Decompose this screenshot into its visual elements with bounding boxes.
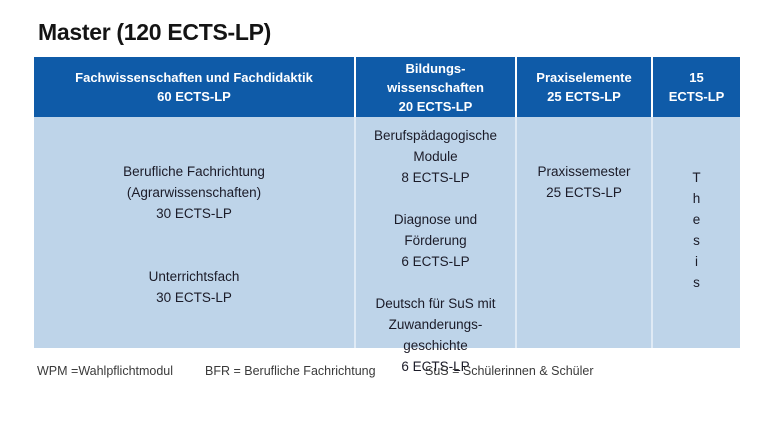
- module-line: Zuwanderungs-: [360, 314, 511, 335]
- table-header-row: Fachwissenschaften und Fachdidaktik 60 E…: [34, 57, 740, 117]
- header-line: ECTS-LP: [657, 87, 736, 106]
- module-line: 8 ECTS-LP: [360, 167, 511, 188]
- slide-canvas: Master (120 ECTS-LP) Fachwissenschaften …: [0, 0, 768, 432]
- body-cell-fachwissenschaften: Berufliche Fachrichtung (Agrarwissenscha…: [34, 117, 356, 348]
- module-line: Praxissemester: [521, 161, 647, 182]
- module-line: 25 ECTS-LP: [521, 182, 647, 203]
- thesis-vertical-label: T h e s i s: [657, 167, 736, 293]
- header-line: 15: [657, 68, 736, 87]
- body-cell-praxiselemente-text: Praxissemester 25 ECTS-LP: [517, 117, 651, 203]
- module-block: Diagnose und Förderung 6 ECTS-LP: [360, 209, 511, 272]
- legend: WPM =Wahlpflichtmodul BFR = Berufliche F…: [34, 361, 740, 381]
- header-line: wissenschaften: [360, 78, 511, 97]
- header-line: Fachwissenschaften und Fachdidaktik: [38, 68, 350, 87]
- legend-item-wpm: WPM =Wahlpflichtmodul: [37, 361, 173, 381]
- page-title: Master (120 ECTS-LP): [38, 17, 271, 47]
- body-cell-thesis-text: T h e s i s: [653, 117, 740, 293]
- header-cell-bildungswissenschaften-text: Bildungs- wissenschaften 20 ECTS-LP: [356, 59, 515, 116]
- header-cell-praxiselemente: Praxiselemente 25 ECTS-LP: [517, 57, 653, 117]
- body-cell-thesis: T h e s i s: [653, 117, 740, 348]
- program-structure-table: Fachwissenschaften und Fachdidaktik 60 E…: [34, 57, 740, 348]
- header-line: Bildungs-: [360, 59, 511, 78]
- header-line: Praxiselemente: [521, 68, 647, 87]
- module-line: geschichte: [360, 335, 511, 356]
- module-line: Unterrichtsfach: [38, 266, 350, 287]
- header-line: 20 ECTS-LP: [360, 97, 511, 116]
- module-line: 6 ECTS-LP: [360, 251, 511, 272]
- module-line: 30 ECTS-LP: [38, 287, 350, 308]
- thesis-letter: e: [693, 209, 701, 230]
- header-line: 25 ECTS-LP: [521, 87, 647, 106]
- thesis-letter: h: [693, 188, 701, 209]
- table-body-row: Berufliche Fachrichtung (Agrarwissenscha…: [34, 117, 740, 348]
- module-line: Förderung: [360, 230, 511, 251]
- thesis-letter: s: [693, 272, 700, 293]
- thesis-letter: s: [693, 230, 700, 251]
- header-cell-thesis: 15 ECTS-LP: [653, 57, 740, 117]
- module-line: Berufliche Fachrichtung: [38, 161, 350, 182]
- module-spacer: [38, 245, 350, 266]
- body-cell-fachwissenschaften-text: Berufliche Fachrichtung (Agrarwissenscha…: [34, 117, 354, 308]
- module-line: Berufspädagogische: [360, 125, 511, 146]
- body-cell-bildungswissenschaften-text: Berufspädagogische Module 8 ECTS-LP Diag…: [356, 117, 515, 377]
- header-cell-fachwissenschaften-text: Fachwissenschaften und Fachdidaktik 60 E…: [34, 68, 354, 106]
- module-spacer: [360, 188, 511, 209]
- module-line: Diagnose und: [360, 209, 511, 230]
- module-spacer: [360, 272, 511, 293]
- legend-item-bfr: BFR = Berufliche Fachrichtung: [205, 361, 376, 381]
- module-block: Berufliche Fachrichtung (Agrarwissenscha…: [38, 161, 350, 224]
- thesis-letter: T: [692, 167, 700, 188]
- module-line: 30 ECTS-LP: [38, 203, 350, 224]
- header-cell-thesis-text: 15 ECTS-LP: [653, 68, 740, 106]
- body-cell-praxiselemente: Praxissemester 25 ECTS-LP: [517, 117, 653, 348]
- header-cell-fachwissenschaften: Fachwissenschaften und Fachdidaktik 60 E…: [34, 57, 356, 117]
- header-cell-praxiselemente-text: Praxiselemente 25 ECTS-LP: [517, 68, 651, 106]
- module-line: Deutsch für SuS mit: [360, 293, 511, 314]
- module-block: Praxissemester 25 ECTS-LP: [521, 161, 647, 203]
- body-cell-bildungswissenschaften: Berufspädagogische Module 8 ECTS-LP Diag…: [356, 117, 517, 348]
- module-block: Berufspädagogische Module 8 ECTS-LP: [360, 125, 511, 188]
- module-line: (Agrarwissenschaften): [38, 182, 350, 203]
- legend-item-sus: SuS = Schülerinnen & Schüler: [425, 361, 594, 381]
- thesis-letter: i: [695, 251, 698, 272]
- module-block: Unterrichtsfach 30 ECTS-LP: [38, 266, 350, 308]
- header-line: 60 ECTS-LP: [38, 87, 350, 106]
- module-spacer: [38, 224, 350, 245]
- header-cell-bildungswissenschaften: Bildungs- wissenschaften 20 ECTS-LP: [356, 57, 517, 117]
- module-line: Module: [360, 146, 511, 167]
